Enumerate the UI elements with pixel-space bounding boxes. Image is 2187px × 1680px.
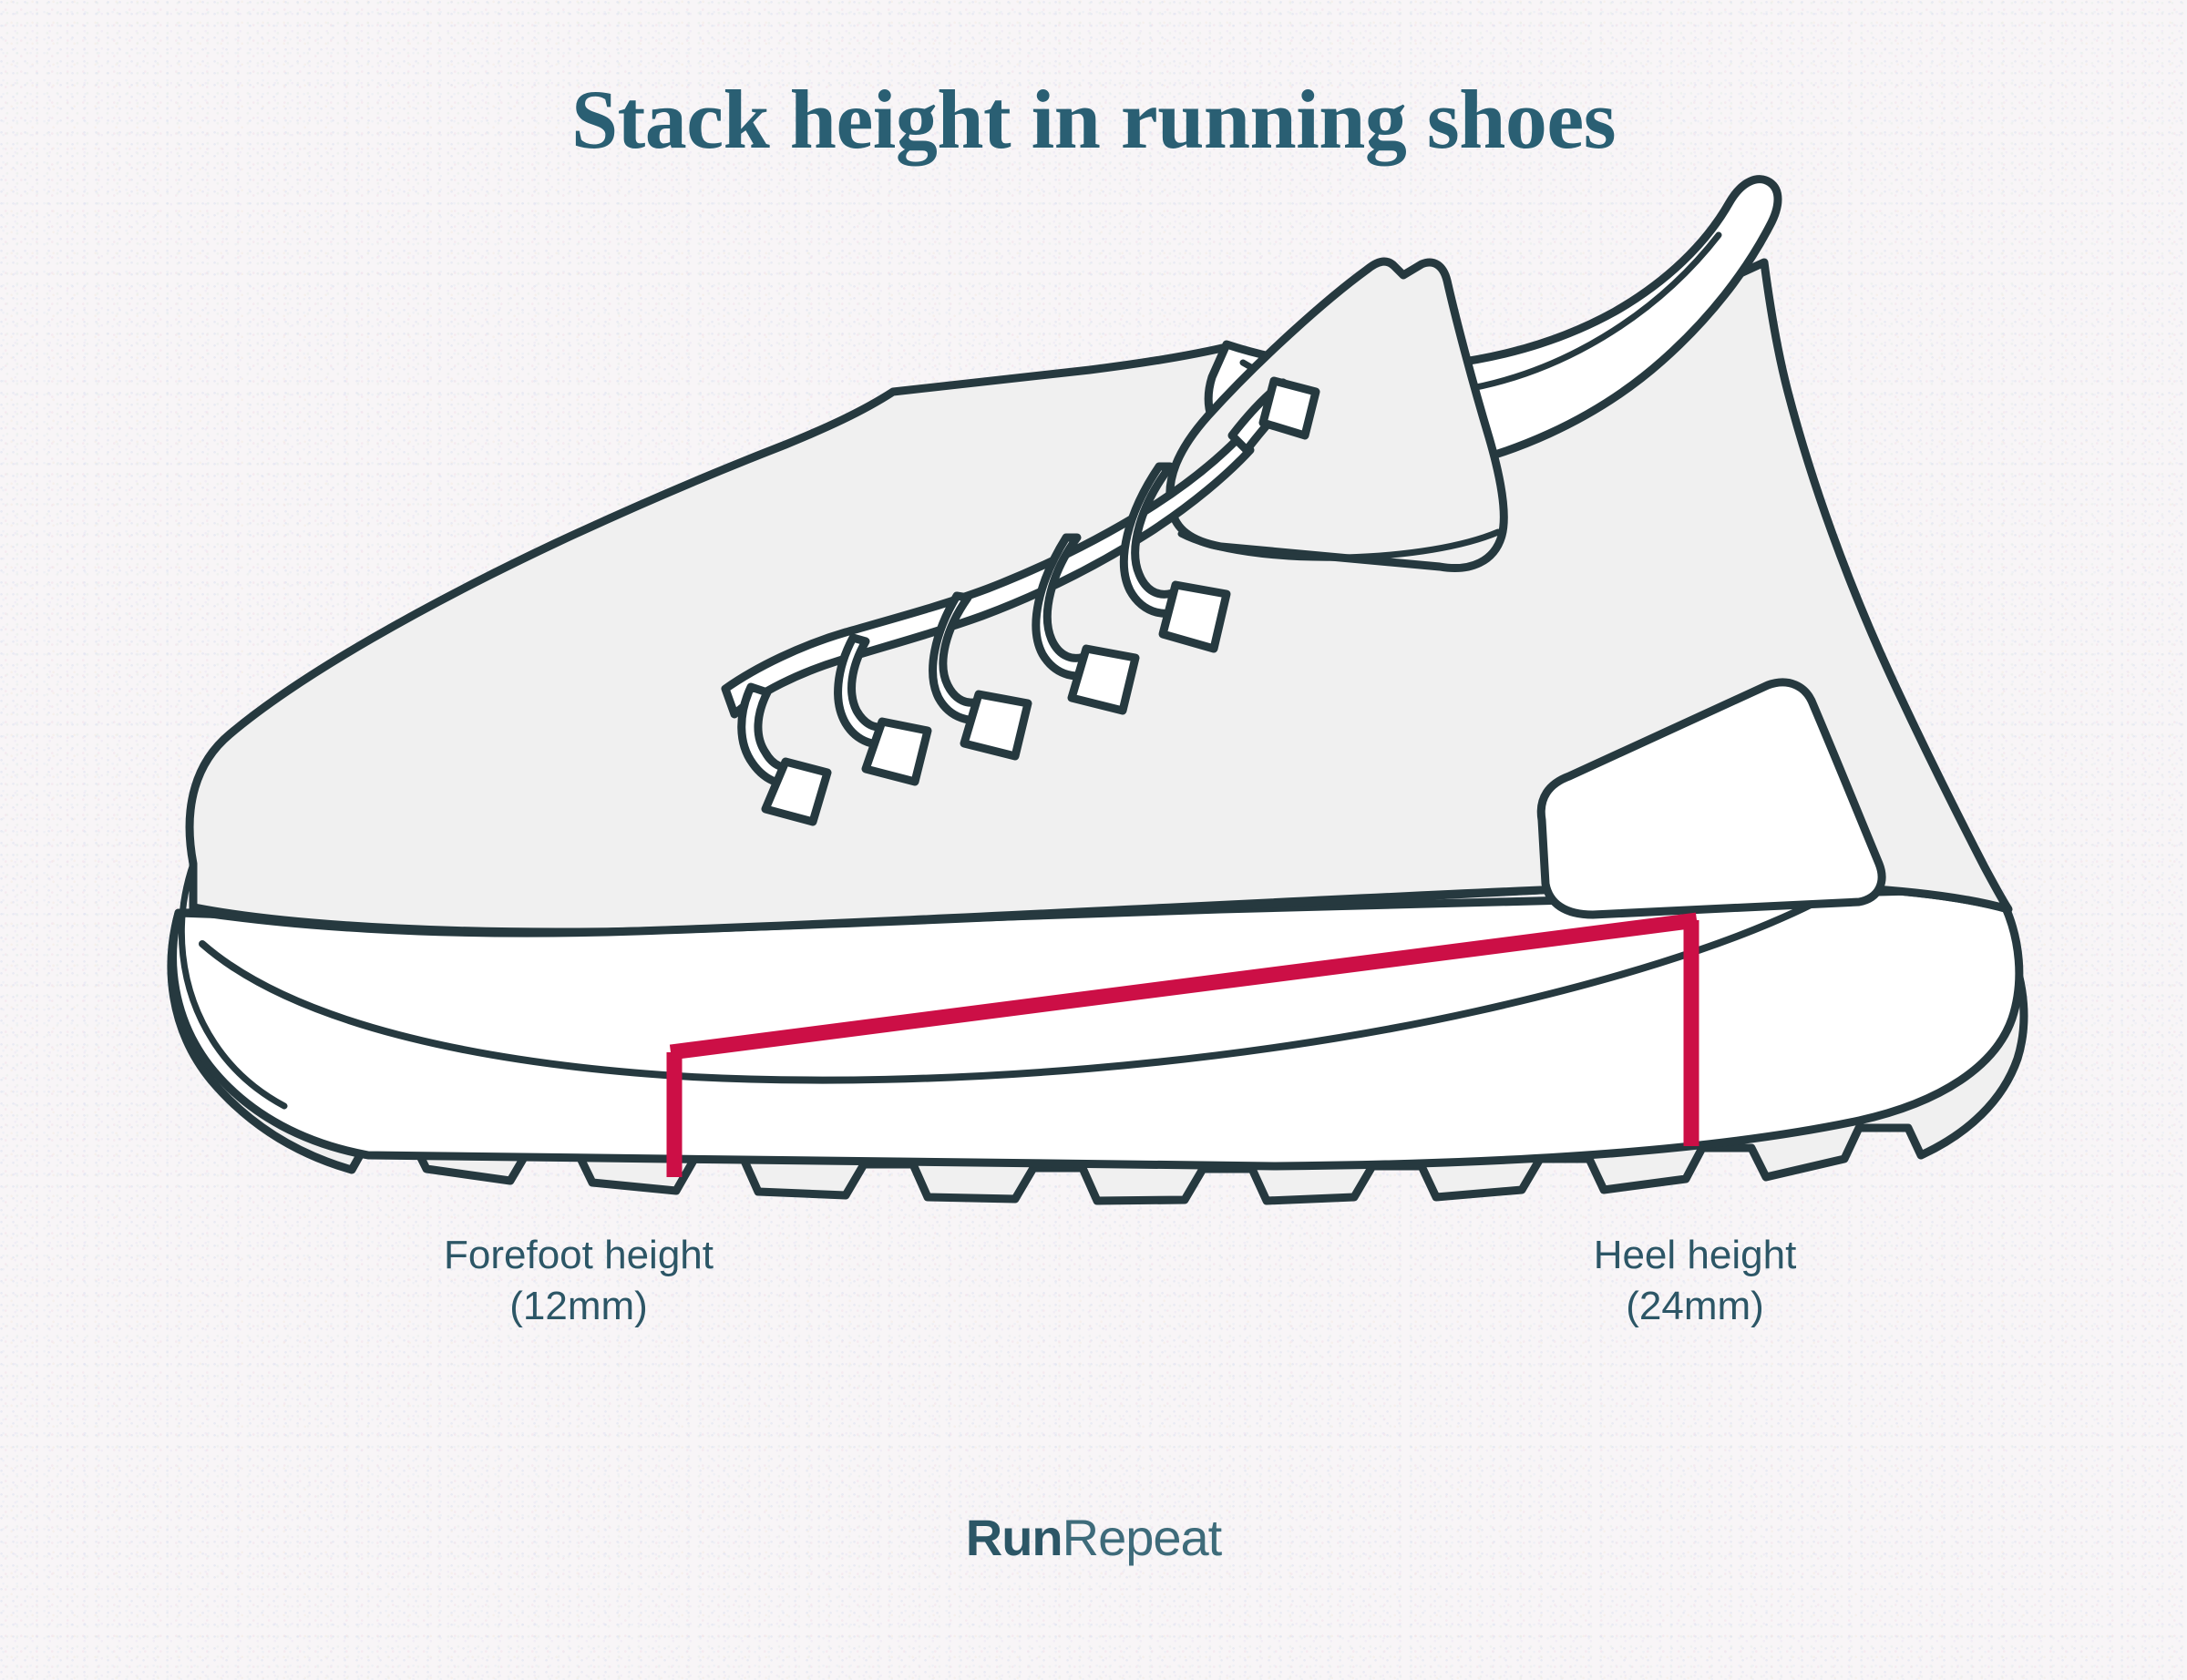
lace-aglet-5 [1163,585,1227,649]
heel-height-name: Heel height [1394,1230,1996,1281]
lace-aglet-6 [1263,381,1316,435]
lace-aglet-4 [1072,649,1135,711]
infographic-canvas: Stack height in running shoes [0,0,2187,1680]
tongue-shape [1170,261,1504,568]
forefoot-height-value: (12mm) [323,1281,834,1332]
forefoot-height-label: Forefoot height (12mm) [323,1230,834,1333]
heel-height-label: Heel height (24mm) [1394,1230,1996,1333]
heel-height-value: (24mm) [1394,1281,1996,1332]
forefoot-height-name: Forefoot height [323,1230,834,1281]
lace-aglet-3 [964,694,1028,756]
logo-run-text: Run [966,1509,1063,1566]
lace-aglet-2 [866,722,928,782]
runrepeat-logo: RunRepeat [0,1508,2187,1567]
logo-repeat-text: Repeat [1063,1509,1222,1566]
running-shoe-illustration [0,0,2187,1680]
